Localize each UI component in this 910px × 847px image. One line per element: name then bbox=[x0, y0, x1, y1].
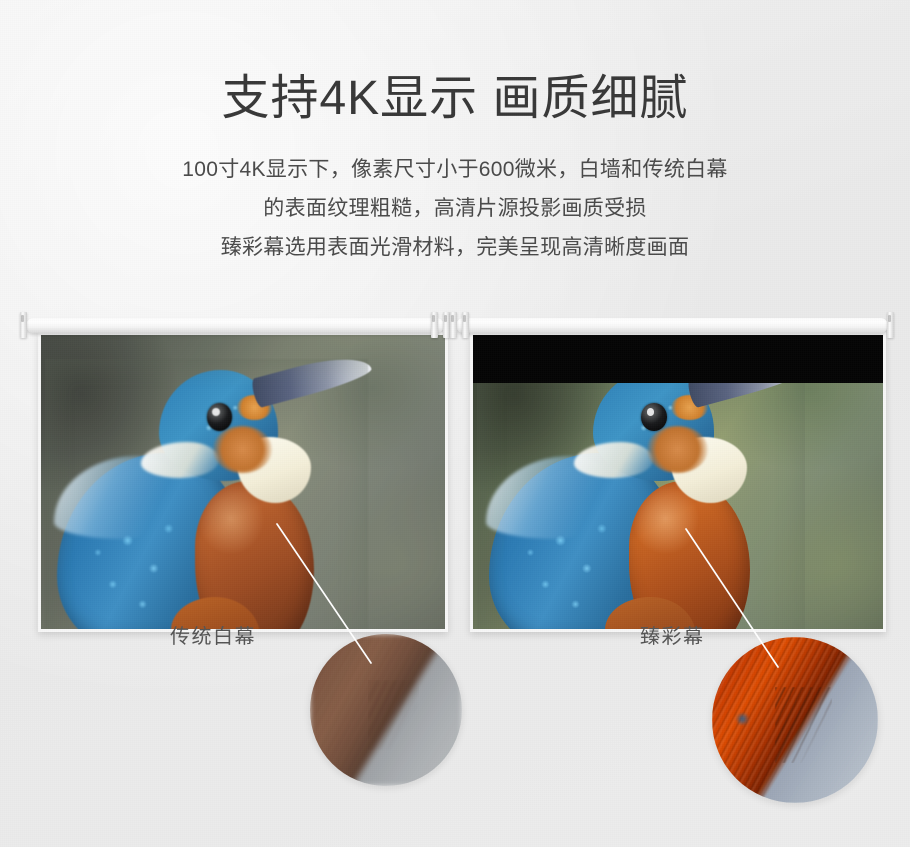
description-line-3: 臻彩幕选用表面光滑材料，完美呈现高清晰度画面 bbox=[0, 228, 910, 267]
kingfisher-subject bbox=[57, 370, 356, 629]
feather-tips bbox=[368, 680, 420, 750]
screen-canvas-right bbox=[470, 332, 886, 632]
mount-bracket-icon bbox=[462, 312, 469, 338]
page-title: 支持4K显示 画质细腻 bbox=[0, 72, 910, 126]
projected-image-premium bbox=[473, 335, 883, 629]
caption-traditional-screen: 传统白幕 bbox=[170, 620, 256, 649]
bird-neck-stripe bbox=[141, 442, 219, 478]
detail-magnifier-traditional bbox=[310, 634, 462, 786]
description-line-1: 100寸4K显示下，像素尺寸小于600微米，白墙和传统白幕 bbox=[0, 150, 910, 189]
mount-bracket-icon bbox=[450, 312, 457, 338]
bird-neck-stripe bbox=[574, 442, 653, 478]
description-block: 100寸4K显示下，像素尺寸小于600微米，白墙和传统白幕 的表面纹理粗糙，高清… bbox=[0, 150, 910, 267]
caption-premium-screen: 臻彩幕 bbox=[640, 620, 705, 649]
kingfisher-subject bbox=[489, 370, 792, 629]
bird-eye bbox=[207, 403, 232, 431]
bird-cheek-patch bbox=[647, 426, 708, 473]
bird-cheek-patch bbox=[213, 426, 273, 473]
mount-bracket-icon bbox=[20, 312, 27, 338]
roller-casing-left bbox=[26, 318, 444, 333]
detail-magnifier-premium bbox=[712, 637, 878, 803]
description-line-2: 的表面纹理粗糙，高清片源投影画质受损 bbox=[0, 189, 910, 228]
bird-eye bbox=[641, 403, 667, 431]
feather-tips bbox=[775, 687, 831, 763]
projected-image-traditional bbox=[41, 335, 445, 629]
mount-bracket-icon bbox=[443, 312, 450, 338]
screen-canvas-left bbox=[38, 332, 448, 632]
mount-bracket-icon bbox=[887, 312, 894, 338]
roller-casing-right bbox=[456, 318, 888, 333]
letterbox-bar bbox=[473, 335, 883, 383]
mount-bracket-icon bbox=[431, 312, 438, 338]
product-detail-page: 支持4K显示 画质细腻 100寸4K显示下，像素尺寸小于600微米，白墙和传统白… bbox=[0, 0, 910, 847]
